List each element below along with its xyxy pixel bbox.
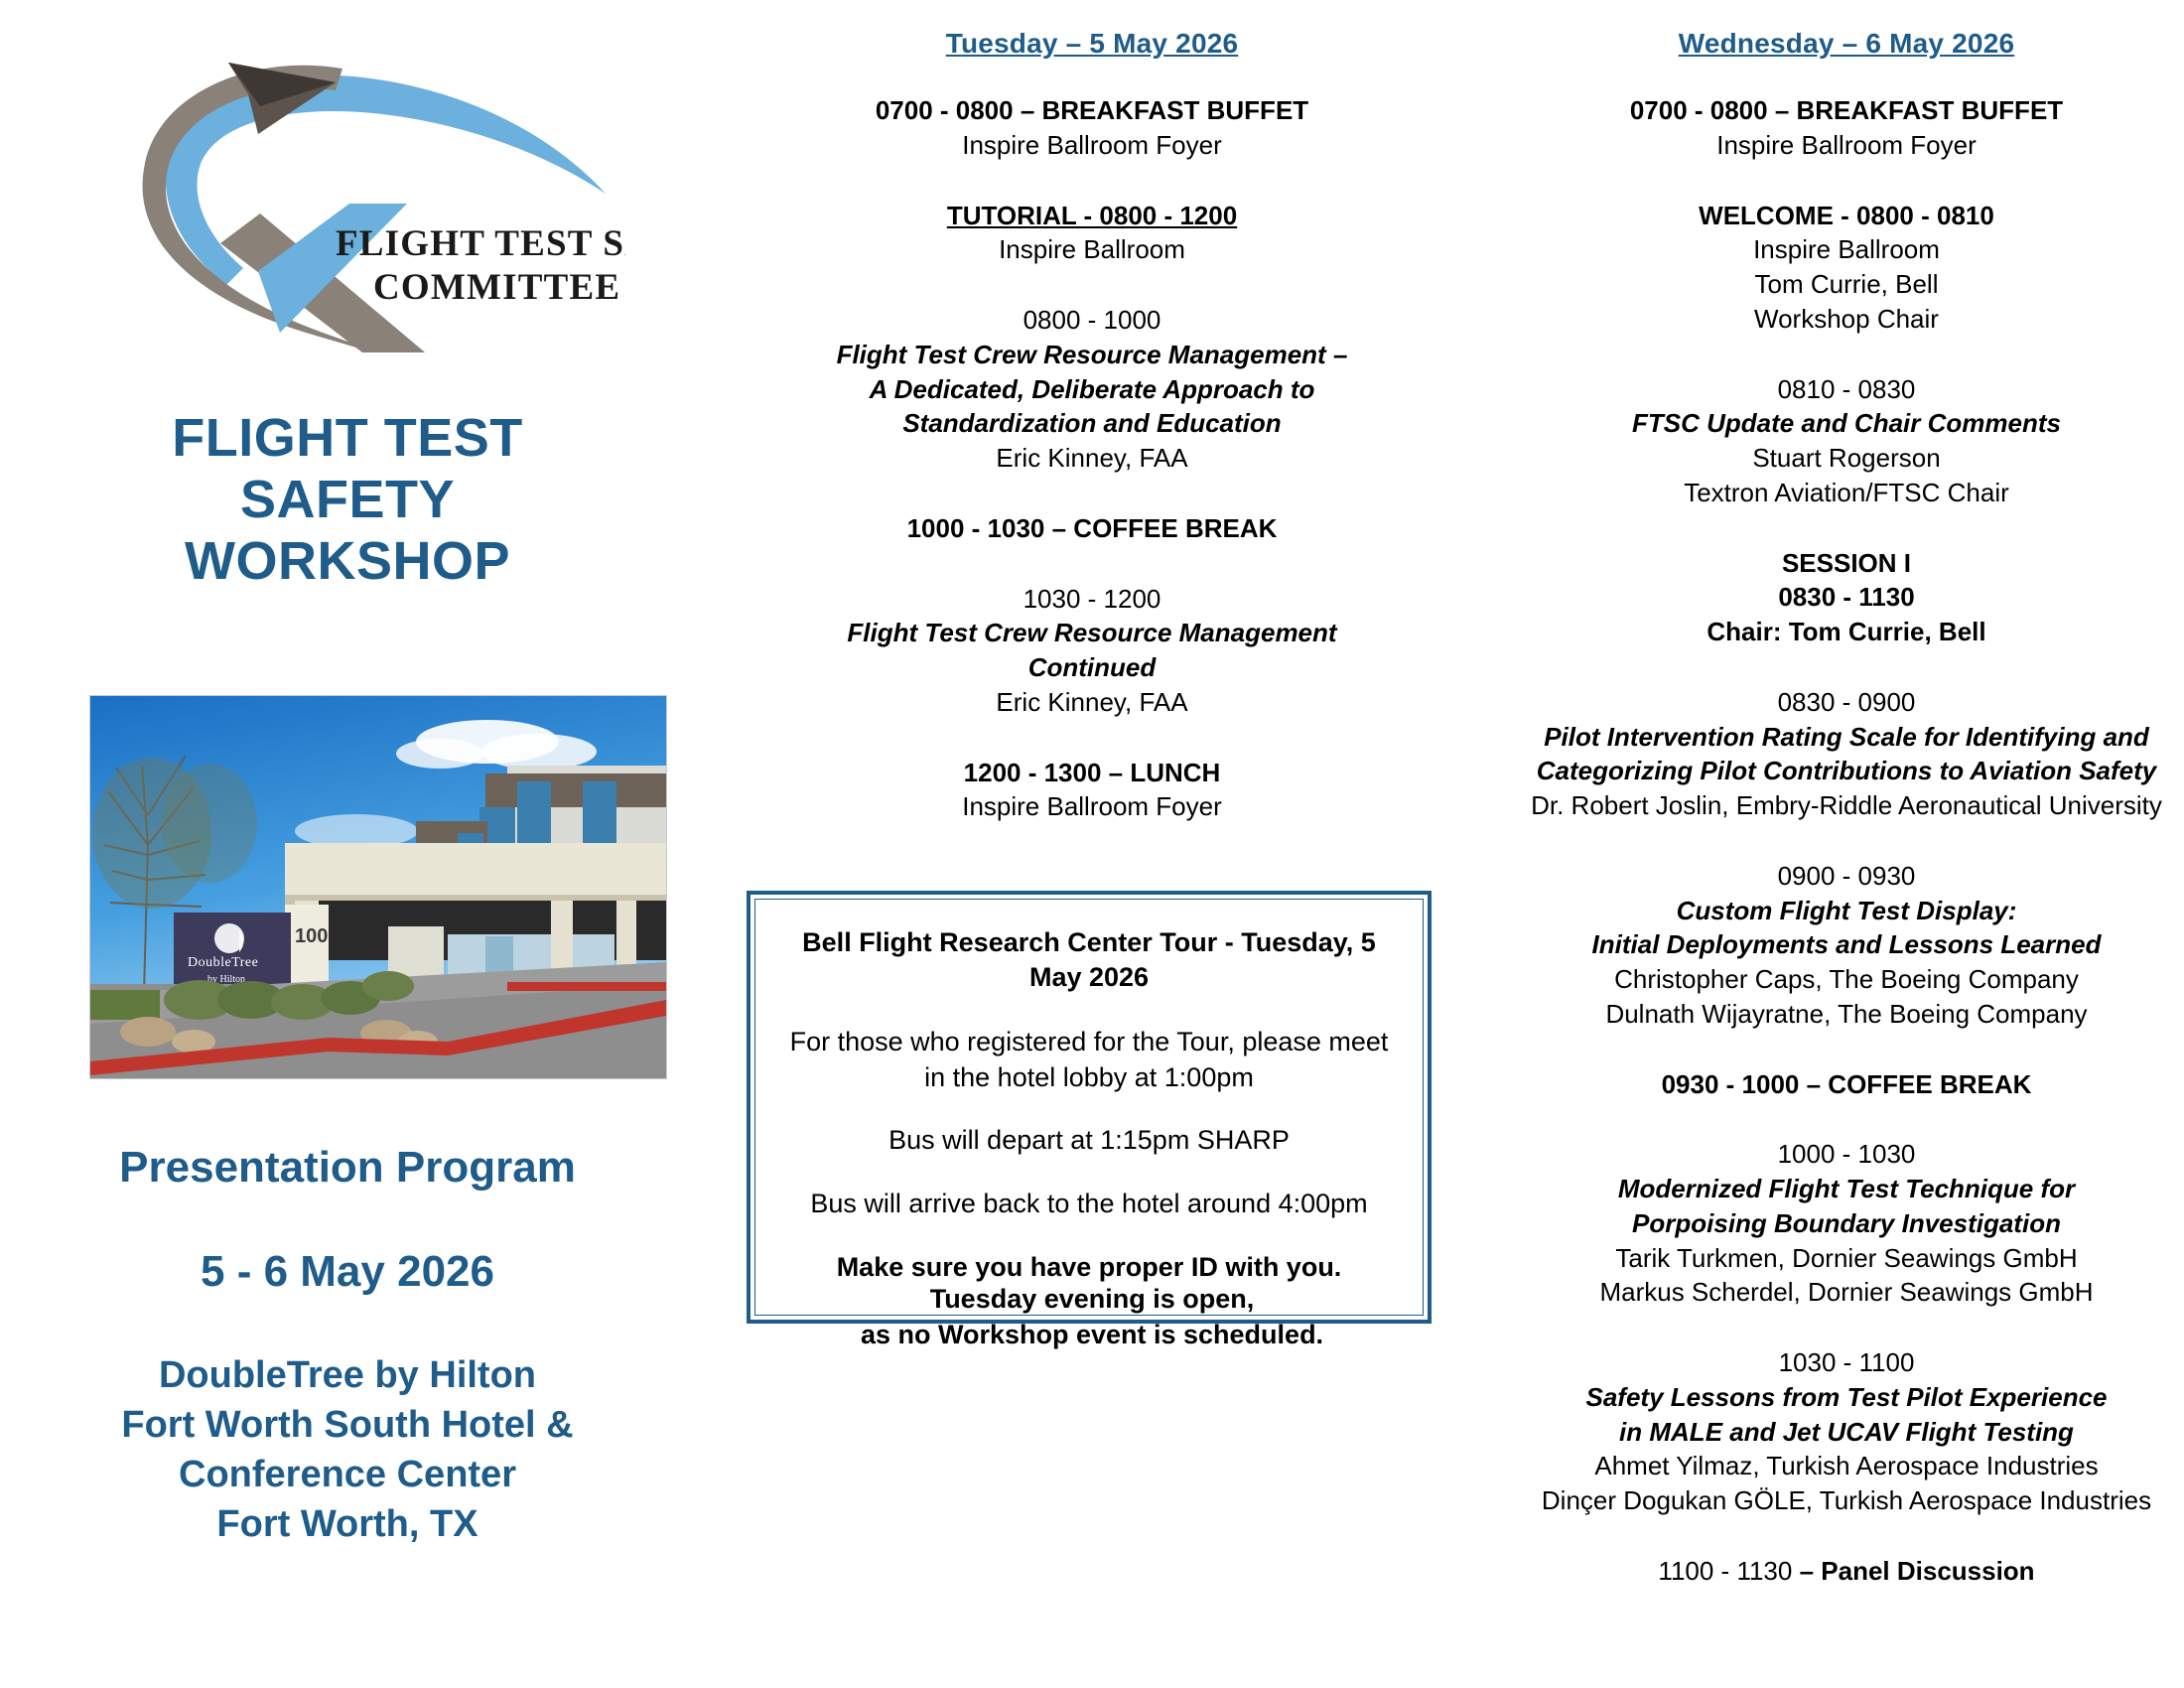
page-title: FLIGHT TEST SAFETY WORKSHOP bbox=[0, 407, 695, 592]
schedule-block: 1100 - 1130 – Panel Discussion bbox=[1509, 1554, 2184, 1589]
schedule-line: 0900 - 0930 bbox=[1509, 859, 2184, 894]
bell-tour-paragraph: Bus will arrive back to the hotel around… bbox=[789, 1187, 1389, 1222]
logo-text-line1: FLIGHT TEST SAFETY bbox=[336, 223, 625, 264]
schedule-line: TUTORIAL - 0800 - 1200 bbox=[695, 199, 1489, 233]
schedule-block: WELCOME - 0800 - 0810Inspire BallroomTom… bbox=[1509, 199, 2184, 337]
schedule-line: FTSC Update and Chair Comments bbox=[1509, 406, 2184, 441]
hotel-photo-graphic: 100 DoubleTree by Hilton bbox=[90, 696, 666, 1078]
schedule-line: 0700 - 0800 – BREAKFAST BUFFET bbox=[695, 93, 1489, 128]
tuesday-heading: Tuesday – 5 May 2026 bbox=[695, 30, 1489, 58]
schedule-line: 0830 - 1130 bbox=[1509, 580, 2184, 615]
hotel-photo: 100 DoubleTree by Hilton bbox=[89, 695, 667, 1079]
schedule-block: 0810 - 0830FTSC Update and Chair Comment… bbox=[1509, 372, 2184, 510]
schedule-block: TUTORIAL - 0800 - 1200Inspire Ballroom bbox=[695, 199, 1489, 268]
schedule-line: Eric Kinney, FAA bbox=[695, 441, 1489, 476]
schedule-line: Flight Test Crew Resource Management bbox=[695, 616, 1489, 650]
schedule-line: 1000 - 1030 bbox=[1509, 1137, 2184, 1172]
schedule-block: 0700 - 0800 – BREAKFAST BUFFETInspire Ba… bbox=[695, 93, 1489, 163]
venue-line-1: DoubleTree by Hilton bbox=[0, 1350, 695, 1400]
cover-location-block: Presentation Program 5 - 6 May 2026 Doub… bbox=[0, 1142, 695, 1549]
schedule-line: Flight Test Crew Resource Management – bbox=[695, 338, 1489, 372]
schedule-line: Pilot Intervention Rating Scale for Iden… bbox=[1509, 720, 2184, 755]
schedule-line: Inspire Ballroom Foyer bbox=[695, 789, 1489, 824]
bell-tour-paragraphs: For those who registered for the Tour, p… bbox=[789, 1025, 1389, 1285]
schedule-line: Continued bbox=[695, 650, 1489, 685]
schedule-line: 0800 - 1000 bbox=[695, 303, 1489, 338]
wednesday-blocks: 0700 - 0800 – BREAKFAST BUFFETInspire Ba… bbox=[1509, 93, 2184, 1589]
schedule-block: 0900 - 0930Custom Flight Test Display:In… bbox=[1509, 859, 2184, 1032]
schedule-line: Stuart Rogerson bbox=[1509, 441, 2184, 476]
schedule-line: Markus Scherdel, Dornier Seawings GmbH bbox=[1509, 1275, 2184, 1310]
schedule-line: 1030 - 1200 bbox=[695, 582, 1489, 617]
bell-tour-inner: Bell Flight Research Center Tour - Tuesd… bbox=[754, 899, 1424, 1316]
schedule-line: Initial Deployments and Lessons Learned bbox=[1509, 927, 2184, 962]
hotel-sign-line1: DoubleTree bbox=[188, 955, 258, 970]
schedule-line: Tom Currie, Bell bbox=[1509, 267, 2184, 302]
tuesday-blocks: 0700 - 0800 – BREAKFAST BUFFETInspire Ba… bbox=[695, 93, 1489, 824]
schedule-line: Textron Aviation/FTSC Chair bbox=[1509, 476, 2184, 510]
schedule-line: Ahmet Yilmaz, Turkish Aerospace Industri… bbox=[1509, 1449, 2184, 1483]
schedule-line: Standardization and Education bbox=[695, 406, 1489, 441]
evening-note-line-2: as no Workshop event is scheduled. bbox=[695, 1317, 1489, 1352]
schedule-line: 1030 - 1100 bbox=[1509, 1345, 2184, 1380]
schedule-line: SESSION I bbox=[1509, 546, 2184, 581]
wednesday-heading: Wednesday – 6 May 2026 bbox=[1509, 30, 2184, 58]
schedule-block: 0700 - 0800 – BREAKFAST BUFFETInspire Ba… bbox=[1509, 93, 2184, 163]
ftsc-logo-graphic: FLIGHT TEST SAFETY COMMITTEE bbox=[109, 35, 625, 352]
tuesday-schedule-column: Tuesday – 5 May 2026 0700 - 0800 – BREAK… bbox=[695, 0, 1489, 824]
schedule-line-suffix: – Panel Discussion bbox=[1800, 1556, 2035, 1586]
schedule-line: Safety Lessons from Test Pilot Experienc… bbox=[1509, 1380, 2184, 1415]
schedule-block: SESSION I0830 - 1130Chair: Tom Currie, B… bbox=[1509, 546, 2184, 649]
bell-tour-paragraph: For those who registered for the Tour, p… bbox=[789, 1025, 1389, 1095]
schedule-line: Workshop Chair bbox=[1509, 302, 2184, 337]
schedule-line: Chair: Tom Currie, Bell bbox=[1509, 615, 2184, 649]
venue-line-4: Fort Worth, TX bbox=[0, 1499, 695, 1549]
evening-note-line-1: Tuesday evening is open, bbox=[695, 1281, 1489, 1317]
schedule-line: 0830 - 0900 bbox=[1509, 685, 2184, 720]
title-line-2: SAFETY bbox=[0, 469, 695, 530]
schedule-line: WELCOME - 0800 - 0810 bbox=[1509, 199, 2184, 233]
schedule-line: Porpoising Boundary Investigation bbox=[1509, 1206, 2184, 1241]
schedule-line: Custom Flight Test Display: bbox=[1509, 894, 2184, 928]
logo-text-line2: COMMITTEE bbox=[373, 267, 620, 308]
schedule-block: 0800 - 1000Flight Test Crew Resource Man… bbox=[695, 303, 1489, 476]
ftsc-logo: FLIGHT TEST SAFETY COMMITTEE bbox=[109, 35, 625, 352]
schedule-line: Categorizing Pilot Contributions to Avia… bbox=[1509, 754, 2184, 788]
schedule-line: Inspire Ballroom bbox=[695, 232, 1489, 267]
schedule-line: Dr. Robert Joslin, Embry-Riddle Aeronaut… bbox=[1509, 788, 2184, 823]
wednesday-schedule-column: Wednesday – 6 May 2026 0700 - 0800 – BRE… bbox=[1509, 0, 2184, 1589]
schedule-line: 1000 - 1030 – COFFEE BREAK bbox=[695, 511, 1489, 546]
title-line-3: WORKSHOP bbox=[0, 530, 695, 592]
cover-column: FLIGHT TEST SAFETY COMMITTEE FLIGHT TEST… bbox=[0, 0, 695, 1688]
bell-tour-paragraph: Make sure you have proper ID with you. bbox=[789, 1250, 1389, 1286]
schedule-line: 0930 - 1000 – COFFEE BREAK bbox=[1509, 1067, 2184, 1102]
schedule-line: 1200 - 1300 – LUNCH bbox=[695, 756, 1489, 790]
schedule-block: 1030 - 1100Safety Lessons from Test Pilo… bbox=[1509, 1345, 2184, 1518]
tuesday-evening-note: Tuesday evening is open, as no Workshop … bbox=[695, 1281, 1489, 1353]
schedule-line: in MALE and Jet UCAV Flight Testing bbox=[1509, 1415, 2184, 1450]
schedule-line: 0810 - 0830 bbox=[1509, 372, 2184, 407]
schedule-line: Tarik Turkmen, Dornier Seawings GmbH bbox=[1509, 1241, 2184, 1276]
program-label: Presentation Program bbox=[0, 1142, 695, 1195]
venue-line-3: Conference Center bbox=[0, 1450, 695, 1499]
schedule-line: 1100 - 1130 – Panel Discussion bbox=[1509, 1554, 2184, 1589]
program-flyer-page: FLIGHT TEST SAFETY COMMITTEE FLIGHT TEST… bbox=[0, 0, 2184, 1688]
schedule-line: Eric Kinney, FAA bbox=[695, 685, 1489, 720]
schedule-line: A Dedicated, Deliberate Approach to bbox=[695, 372, 1489, 407]
schedule-line: Inspire Ballroom Foyer bbox=[1509, 128, 2184, 163]
schedule-block: 0930 - 1000 – COFFEE BREAK bbox=[1509, 1067, 2184, 1102]
title-line-1: FLIGHT TEST bbox=[0, 407, 695, 469]
bell-tour-paragraph: Bus will depart at 1:15pm SHARP bbox=[789, 1123, 1389, 1159]
schedule-line: Modernized Flight Test Technique for bbox=[1509, 1172, 2184, 1206]
bell-tour-callout-box: Bell Flight Research Center Tour - Tuesd… bbox=[747, 891, 1432, 1324]
schedule-block: 0830 - 0900Pilot Intervention Rating Sca… bbox=[1509, 685, 2184, 823]
schedule-block: 1000 - 1030 – COFFEE BREAK bbox=[695, 511, 1489, 546]
bell-tour-title: Bell Flight Research Center Tour - Tuesd… bbox=[789, 925, 1389, 995]
venue-block: DoubleTree by Hilton Fort Worth South Ho… bbox=[0, 1350, 695, 1550]
schedule-line: Inspire Ballroom Foyer bbox=[695, 128, 1489, 163]
venue-line-2: Fort Worth South Hotel & bbox=[0, 1400, 695, 1450]
schedule-line: Dulnath Wijayratne, The Boeing Company bbox=[1509, 997, 2184, 1032]
schedule-line: Dinçer Dogukan GÖLE, Turkish Aerospace I… bbox=[1509, 1483, 2184, 1518]
event-dates: 5 - 6 May 2026 bbox=[0, 1246, 695, 1299]
schedule-block: 1200 - 1300 – LUNCHInspire Ballroom Foye… bbox=[695, 756, 1489, 825]
schedule-line: Christopher Caps, The Boeing Company bbox=[1509, 962, 2184, 997]
schedule-block: 1030 - 1200Flight Test Crew Resource Man… bbox=[695, 582, 1489, 720]
hotel-address-number: 100 bbox=[295, 925, 328, 947]
schedule-line: Inspire Ballroom bbox=[1509, 232, 2184, 267]
schedule-block: 1000 - 1030Modernized Flight Test Techni… bbox=[1509, 1137, 2184, 1310]
schedule-line: 0700 - 0800 – BREAKFAST BUFFET bbox=[1509, 93, 2184, 128]
